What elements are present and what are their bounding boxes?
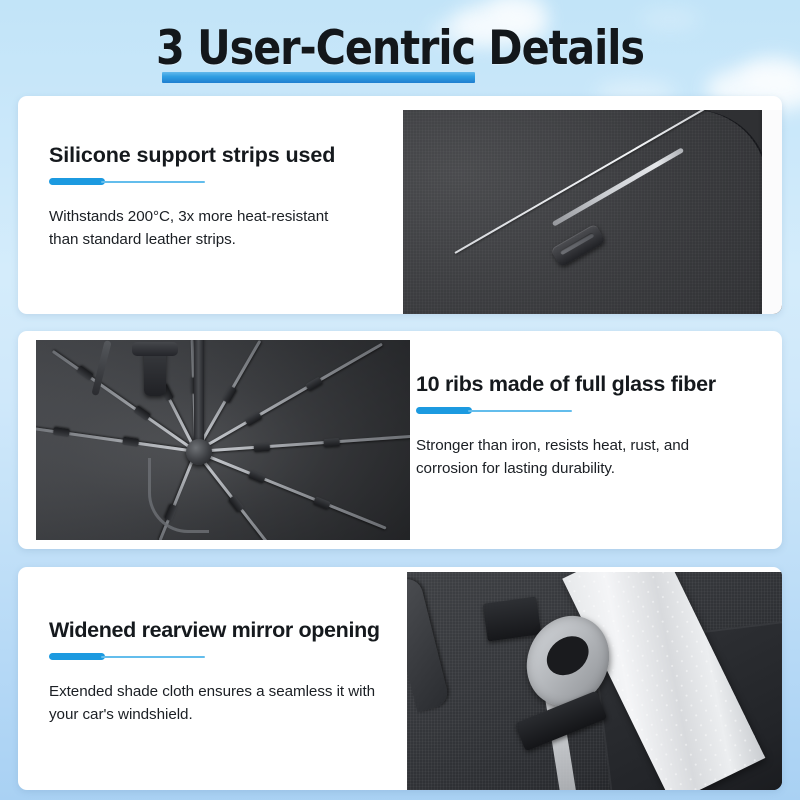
feature-heading: Widened rearview mirror opening: [49, 618, 380, 643]
divider-thick-segment: [49, 178, 105, 185]
feature-card-text: 10 ribs made of full glass fiber Stronge…: [416, 331, 782, 549]
image-background: [762, 110, 782, 314]
feature-body: Extended shade cloth ensures a seamless …: [49, 680, 379, 726]
feature-card-text: Silicone support strips used Withstands …: [49, 96, 409, 314]
velcro-patch: [483, 596, 542, 641]
accent-divider: [49, 651, 209, 663]
feature-image-mirror-opening: [407, 572, 782, 790]
divider-thick-segment: [416, 407, 472, 414]
page-title: 3 User-Centric Details: [48, 10, 752, 88]
divider-thin-segment: [468, 410, 572, 412]
feature-card: Widened rearview mirror opening Extended…: [18, 567, 782, 790]
accent-divider: [49, 176, 209, 188]
feature-image-glass-fiber-ribs: [36, 340, 410, 540]
feature-card-text: Widened rearview mirror opening Extended…: [49, 567, 409, 790]
header: 3 User-Centric Details: [0, 10, 800, 88]
feature-body: Stronger than iron, resists heat, rust, …: [416, 434, 746, 480]
umbrella-handle-top: [132, 342, 178, 356]
feature-heading: 10 ribs made of full glass fiber: [416, 372, 716, 397]
umbrella-shaft: [194, 340, 204, 450]
feature-card: Silicone support strips used Withstands …: [18, 96, 782, 314]
feature-body: Withstands 200°C, 3x more heat-resistant…: [49, 205, 349, 251]
divider-thick-segment: [49, 653, 105, 660]
feature-heading: Silicone support strips used: [49, 143, 335, 168]
feature-image-silicone-strip: [403, 110, 782, 314]
promo-page: 3 User-Centric Details Silicone support …: [0, 0, 800, 800]
accent-divider: [416, 405, 576, 417]
umbrella-hub: [186, 439, 212, 465]
sunshade-panel: [403, 110, 769, 314]
divider-thin-segment: [101, 656, 205, 658]
feature-card: 10 ribs made of full glass fiber Stronge…: [18, 331, 782, 549]
divider-thin-segment: [101, 181, 205, 183]
